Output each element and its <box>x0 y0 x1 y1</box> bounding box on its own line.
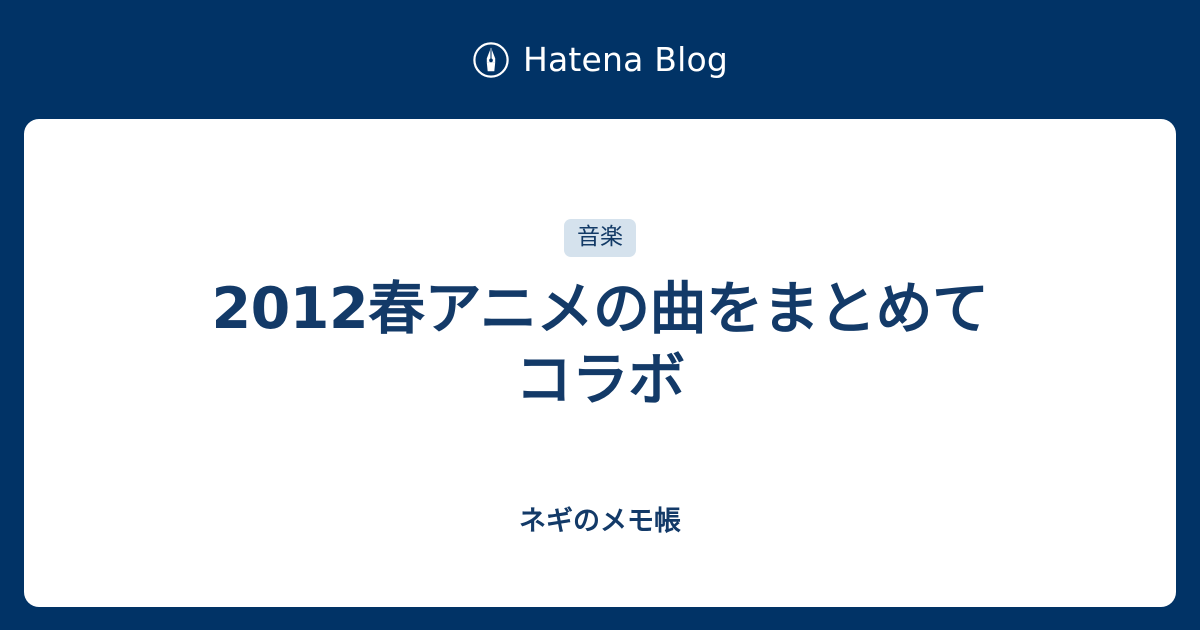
hatena-blog-brand: Hatena Blog <box>0 0 1200 119</box>
entry-card: 音楽 2012春アニメの曲をまとめてコラボ ネギのメモ帳 <box>24 119 1176 607</box>
entry-card-inner: 音楽 2012春アニメの曲をまとめてコラボ ネギのメモ帳 <box>24 119 1176 607</box>
entry-title: 2012春アニメの曲をまとめてコラボ <box>200 274 1000 415</box>
category-badge[interactable]: 音楽 <box>564 219 636 257</box>
blog-name[interactable]: ネギのメモ帳 <box>150 504 1050 539</box>
hatena-pen-nib-icon <box>472 41 510 79</box>
hatena-blog-wordmark: Hatena Blog <box>523 43 728 76</box>
og-image-root: Hatena Blog 音楽 2012春アニメの曲をまとめてコラボ ネギのメモ帳 <box>0 0 1200 630</box>
